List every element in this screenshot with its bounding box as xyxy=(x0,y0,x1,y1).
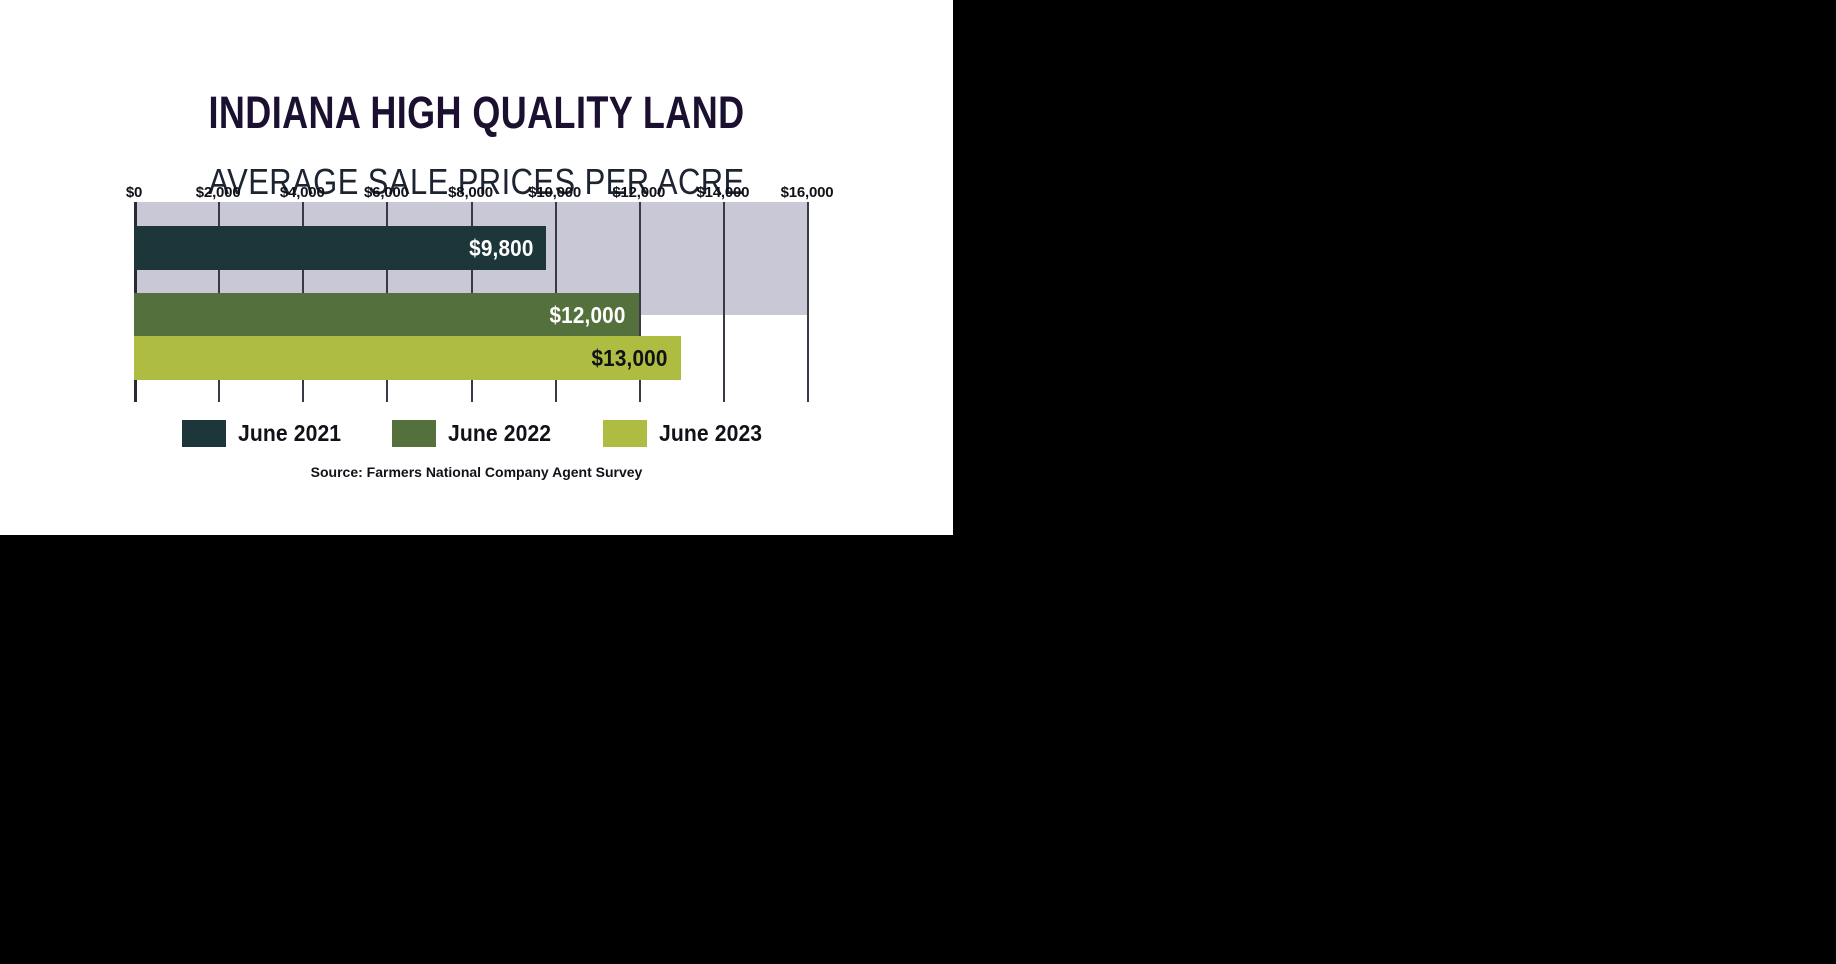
x-axis-tick-labels: $0$2,000$4,000$6,000$8,000$10,000$12,000… xyxy=(0,184,953,204)
tick-label-4000: $4,000 xyxy=(280,184,325,201)
chart-legend: June 2021 June 2022 June 2023 xyxy=(0,420,953,447)
bar-value-label-june-2023: $13,000 xyxy=(592,345,668,372)
tick-label-14000: $14,000 xyxy=(696,184,749,201)
tick-label-0: $0 xyxy=(126,184,142,201)
legend-label-june-2023: June 2023 xyxy=(659,420,762,447)
legend-label-june-2021: June 2021 xyxy=(238,420,341,447)
legend-item-june-2022: June 2022 xyxy=(392,420,560,447)
bar-value-label-june-2021: $9,800 xyxy=(469,235,533,262)
chart-card: INDIANA HIGH QUALITY LAND AVERAGE SALE P… xyxy=(0,0,953,535)
tick-label-16000: $16,000 xyxy=(781,184,834,201)
bar-june-2021: $9,800 xyxy=(134,226,546,270)
legend-swatch-june-2022 xyxy=(392,420,436,447)
gridline-14000 xyxy=(723,202,725,402)
tick-label-10000: $10,000 xyxy=(528,184,581,201)
tick-label-2000: $2,000 xyxy=(196,184,241,201)
legend-swatch-june-2021 xyxy=(182,420,226,447)
gridline-16000 xyxy=(807,202,809,402)
tick-label-6000: $6,000 xyxy=(364,184,409,201)
bar-value-label-june-2022: $12,000 xyxy=(550,302,626,329)
tick-label-12000: $12,000 xyxy=(612,184,665,201)
legend-item-june-2021: June 2021 xyxy=(182,420,350,447)
legend-swatch-june-2023 xyxy=(603,420,647,447)
bar-june-2023: $13,000 xyxy=(134,336,681,380)
legend-label-june-2022: June 2022 xyxy=(448,420,551,447)
tick-label-8000: $8,000 xyxy=(448,184,493,201)
source-attribution: Source: Farmers National Company Agent S… xyxy=(0,464,953,480)
chart-title: INDIANA HIGH QUALITY LAND xyxy=(95,88,857,138)
plot-area: $9,800 $12,000 $13,000 xyxy=(134,202,807,402)
legend-item-june-2023: June 2023 xyxy=(603,420,771,447)
bar-june-2022: $12,000 xyxy=(134,293,639,337)
